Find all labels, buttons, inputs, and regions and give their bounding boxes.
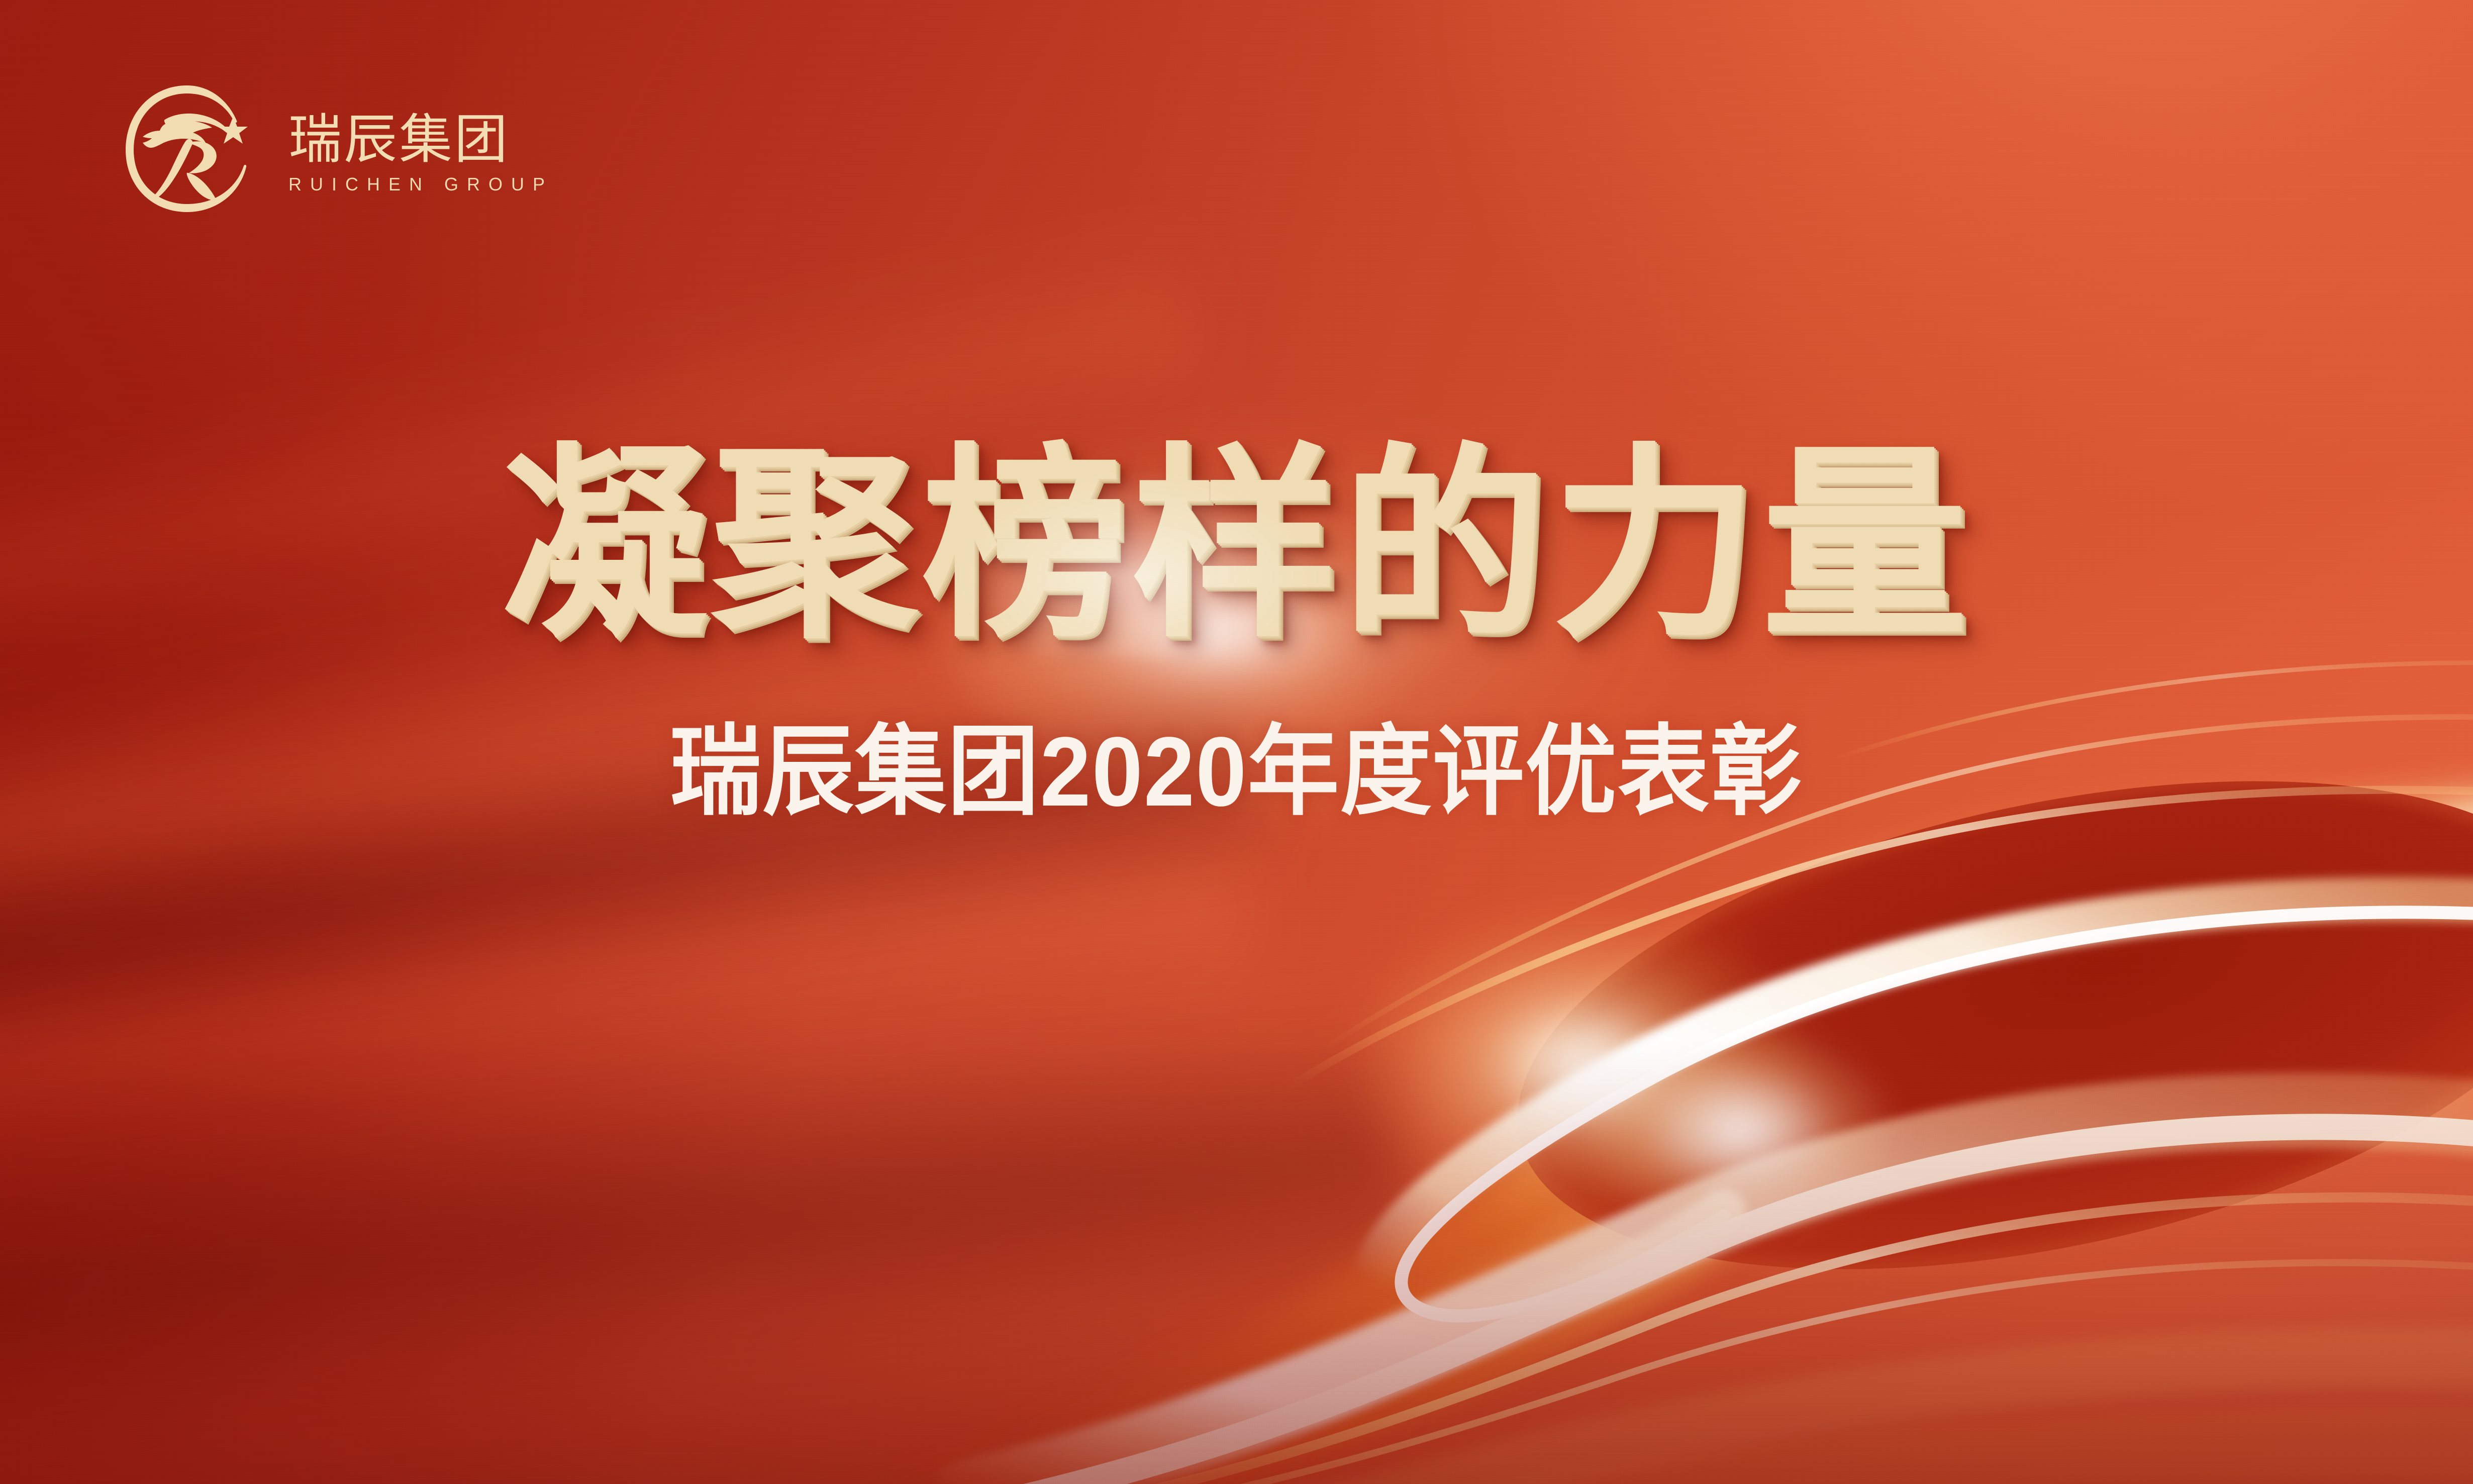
background-bottom-vignette <box>0 0 2473 1484</box>
company-name-cn: 瑞辰集团 <box>288 113 553 166</box>
ruichen-emblem-icon <box>119 80 255 217</box>
brand-logo-lockup[interactable]: 瑞辰集团 RUICHEN GROUP <box>119 80 553 217</box>
company-name-en: RUICHEN GROUP <box>288 175 553 193</box>
brand-wordmark: 瑞辰集团 RUICHEN GROUP <box>288 104 553 193</box>
poster-canvas: 瑞辰集团 RUICHEN GROUP 凝聚榜样的力量 瑞辰集团2020年度评优表… <box>0 0 2473 1484</box>
